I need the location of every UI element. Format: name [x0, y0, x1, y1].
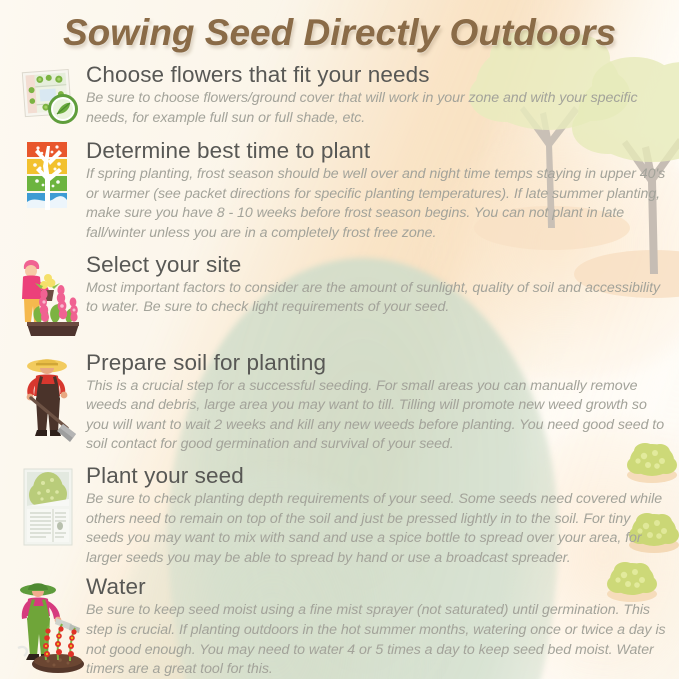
icon-cell — [10, 574, 86, 676]
icon-cell — [10, 138, 86, 214]
section-body: Be sure to keep seed moist using a fine … — [86, 601, 667, 679]
text-cell: Plant your seed Be sure to check plantin… — [86, 463, 671, 568]
gardener-with-shovel-icon — [16, 352, 80, 446]
section-determine-time: Determine best time to plant If spring p… — [0, 138, 679, 243]
section-water: Water Be sure to keep seed moist using a… — [0, 574, 679, 679]
gardener-with-flower-bed-icon — [13, 254, 83, 340]
infographic-poster: Sowing Seed Directly Outdoors — [0, 0, 679, 679]
icon-cell — [10, 252, 86, 340]
poster-title: Sowing Seed Directly Outdoors — [63, 12, 616, 54]
section-select-site: Select your site Most important factors … — [0, 252, 679, 340]
icon-cell — [10, 62, 86, 128]
text-cell: Choose flowers that fit your needs Be su… — [86, 62, 671, 128]
icon-cell — [10, 463, 86, 549]
section-prepare-soil: Prepare soil for planting This is a cruc… — [0, 350, 679, 455]
section-body: Most important factors to consider are t… — [86, 279, 667, 318]
section-body: Be sure to choose flowers/ground cover t… — [86, 89, 667, 128]
four-seasons-icon — [19, 140, 77, 214]
section-body: Be sure to check planting depth requirem… — [86, 490, 667, 568]
section-plant-seed: Plant your seed Be sure to check plantin… — [0, 463, 679, 568]
text-cell: Determine best time to plant If spring p… — [86, 138, 671, 243]
section-heading: Select your site — [86, 252, 667, 278]
section-body: If spring planting, frost season should … — [86, 165, 667, 243]
gardener-watering-icon — [10, 576, 86, 676]
icon-cell — [10, 350, 86, 446]
garden-plan-map-icon — [16, 64, 80, 128]
section-heading: Prepare soil for planting — [86, 350, 667, 376]
seed-packet-icon — [18, 465, 78, 549]
section-heading: Water — [86, 574, 667, 600]
poster-title-container: Sowing Seed Directly Outdoors — [0, 12, 679, 54]
section-heading: Determine best time to plant — [86, 138, 667, 164]
text-cell: Water Be sure to keep seed moist using a… — [86, 574, 671, 679]
section-heading: Choose flowers that fit your needs — [86, 62, 667, 88]
text-cell: Prepare soil for planting This is a cruc… — [86, 350, 671, 455]
text-cell: Select your site Most important factors … — [86, 252, 671, 318]
section-body: This is a crucial step for a successful … — [86, 377, 667, 455]
section-heading: Plant your seed — [86, 463, 667, 489]
sections-list: Choose flowers that fit your needs Be su… — [0, 62, 679, 679]
section-choose-flowers: Choose flowers that fit your needs Be su… — [0, 62, 679, 128]
